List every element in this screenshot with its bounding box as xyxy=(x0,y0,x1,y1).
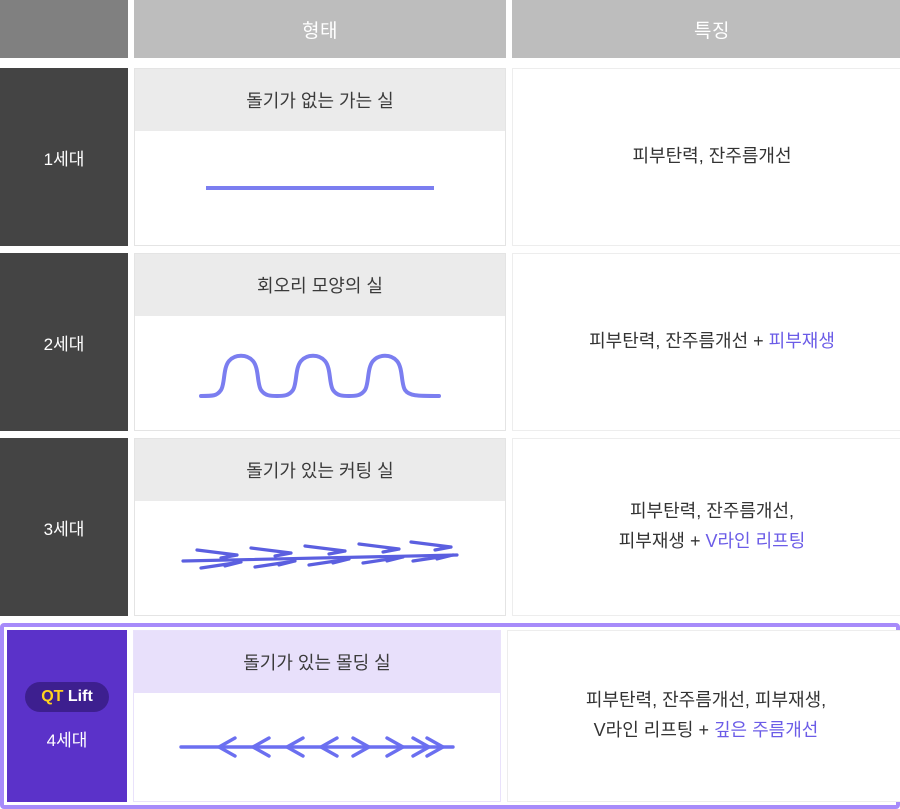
features-plus: + xyxy=(690,531,706,551)
features-line-1: 피부탄력, 잔주름개선, 피부재생, xyxy=(586,686,826,716)
features-plus: + xyxy=(698,720,714,740)
table-row-highlighted: QT Lift 4세대 돌기가 있는 몰딩 실 xyxy=(0,623,900,809)
thread-illustration-bidirectional-molding xyxy=(134,693,500,801)
features-text-1: 피부탄력, 잔주름개선 xyxy=(632,142,791,172)
features-line-2: 피부재생 + V라인 리프팅 xyxy=(619,527,806,557)
features-line-plain: 피부탄력, 잔주름개선 xyxy=(589,331,753,351)
features-text-4: 피부탄력, 잔주름개선, 피부재생, V라인 리프팅 + 깊은 주름개선 xyxy=(586,686,826,745)
features-text-2: 피부탄력, 잔주름개선 + 피부재생 xyxy=(589,327,835,357)
form-title-4: 돌기가 있는 몰딩 실 xyxy=(134,631,500,693)
thread-illustration-barbed-cog xyxy=(135,501,505,615)
generation-label-cell-1: 1세대 xyxy=(0,68,128,246)
table-row: 1세대 돌기가 없는 가는 실 피부탄력, 잔주름개선 xyxy=(0,68,900,246)
generation-label: 4세대 xyxy=(47,726,88,751)
table-row: 2세대 회오리 모양의 실 피부탄력, 잔주름개선 + 피부재생 xyxy=(0,253,900,431)
generation-label-cell-2: 2세대 xyxy=(0,253,128,431)
form-title-1: 돌기가 없는 가는 실 xyxy=(135,69,505,131)
features-cell-2: 피부탄력, 잔주름개선 + 피부재생 xyxy=(512,253,900,431)
generation-label: 2세대 xyxy=(44,330,85,355)
form-title-3: 돌기가 있는 커팅 실 xyxy=(135,439,505,501)
features-text-3: 피부탄력, 잔주름개선, 피부재생 + V라인 리프팅 xyxy=(619,497,806,556)
header-cell-features: 특징 xyxy=(512,0,900,58)
form-title-2: 회오리 모양의 실 xyxy=(135,254,505,316)
generation-comparison-table: 형태 특징 1세대 돌기가 없는 가는 실 피부탄력, 잔주름개선 xyxy=(0,0,900,809)
form-cell-3: 돌기가 있는 커팅 실 xyxy=(134,438,506,616)
badge-brand: QT xyxy=(41,688,63,705)
features-line-2: V라인 리프팅 + 깊은 주름개선 xyxy=(586,716,826,746)
features-line-1: 피부탄력, 잔주름개선, xyxy=(619,497,806,527)
features-cell-1: 피부탄력, 잔주름개선 xyxy=(512,68,900,246)
features-accent: 피부재생 xyxy=(769,331,835,351)
generation-label-cell-4: QT Lift 4세대 xyxy=(7,630,127,802)
table-row: 3세대 돌기가 있는 커팅 실 xyxy=(0,438,900,616)
form-cell-4: 돌기가 있는 몰딩 실 xyxy=(133,630,501,802)
generation-label: 1세대 xyxy=(44,145,85,170)
thread-illustration-spiral-wave xyxy=(135,316,505,430)
features-cell-4: 피부탄력, 잔주름개선, 피부재생, V라인 리프팅 + 깊은 주름개선 xyxy=(507,630,900,802)
generation-label: 3세대 xyxy=(44,515,85,540)
features-plus: + xyxy=(753,331,769,351)
form-cell-2: 회오리 모양의 실 xyxy=(134,253,506,431)
features-line-plain: V라인 리프팅 xyxy=(594,720,699,740)
features-line: 피부탄력, 잔주름개선 xyxy=(632,146,791,166)
generation-label-cell-3: 3세대 xyxy=(0,438,128,616)
features-line-plain: 피부재생 xyxy=(619,531,690,551)
header-cell-form: 형태 xyxy=(134,0,506,58)
form-cell-1: 돌기가 없는 가는 실 xyxy=(134,68,506,246)
badge-product: Lift xyxy=(68,688,93,705)
table-header-row: 형태 특징 xyxy=(0,0,900,58)
header-blank-cell xyxy=(0,0,128,58)
comparison-table-page: 형태 특징 1세대 돌기가 없는 가는 실 피부탄력, 잔주름개선 xyxy=(0,0,900,809)
features-accent: 깊은 주름개선 xyxy=(714,720,818,740)
thread-illustration-straight-line xyxy=(135,131,505,245)
qt-lift-badge: QT Lift xyxy=(25,682,109,712)
features-accent: V라인 리프팅 xyxy=(705,531,805,551)
features-cell-3: 피부탄력, 잔주름개선, 피부재생 + V라인 리프팅 xyxy=(512,438,900,616)
